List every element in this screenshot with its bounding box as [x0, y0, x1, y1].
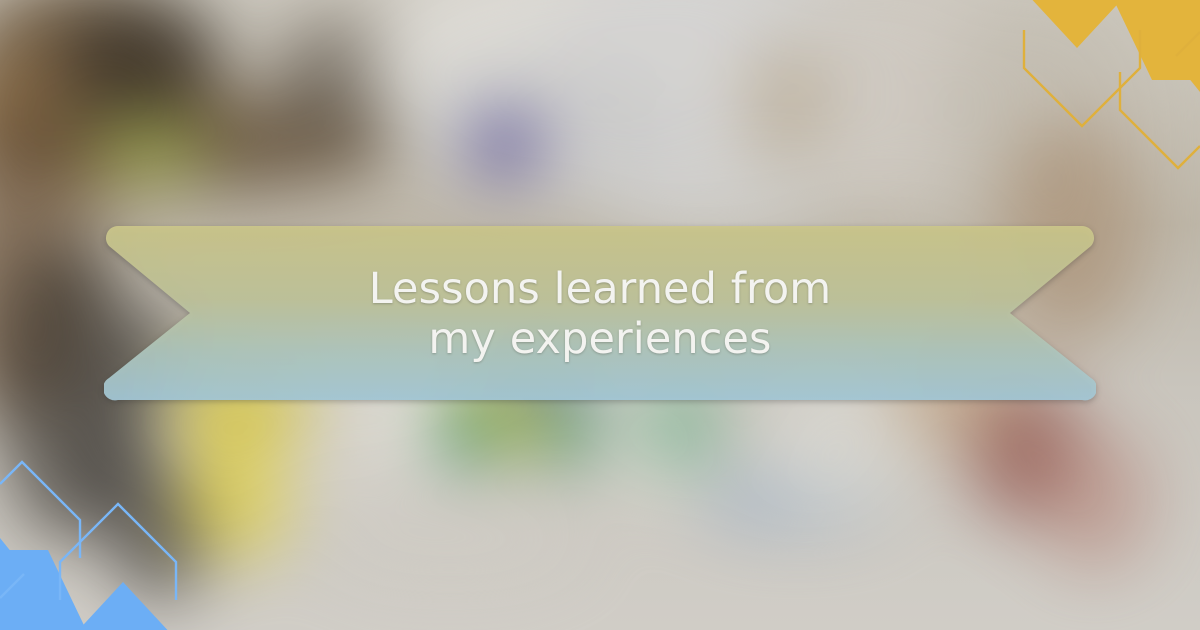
title-line-1: Lessons learned from — [369, 265, 832, 315]
bottom-left-geometric-accent — [0, 460, 200, 630]
ribbon-title-text: Lessons learned from my experiences — [104, 224, 1096, 404]
social-banner-card: Lessons learned from my experiences — [0, 0, 1200, 630]
bottom-left-accent-svg — [0, 460, 200, 630]
title-ribbon: Lessons learned from my experiences — [104, 224, 1096, 402]
title-line-2: my experiences — [428, 315, 771, 365]
blue-outline-chevron-2 — [0, 462, 80, 558]
top-right-accent-svg — [1000, 0, 1200, 170]
yellow-outline-chevron-2 — [1120, 72, 1200, 168]
top-right-geometric-accent — [1000, 0, 1200, 170]
